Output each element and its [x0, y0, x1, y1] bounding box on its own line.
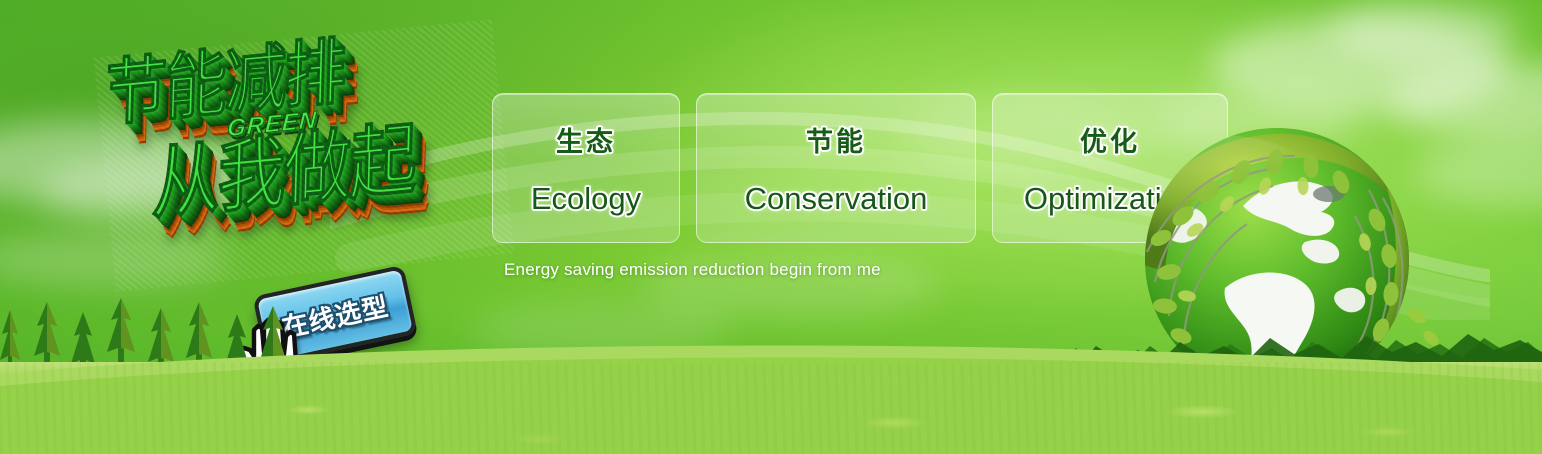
feature-card-title-cn: 节能	[806, 120, 866, 159]
clouds-icon	[1330, 0, 1520, 60]
feature-card-title-en: Ecology	[531, 181, 641, 217]
headline-line-2: 从我做起	[151, 120, 416, 225]
clouds-icon	[40, 158, 280, 222]
headline-accent-green: GREEN	[226, 106, 318, 143]
clouds-icon	[0, 120, 240, 206]
feature-card-title-cn: 生态	[556, 120, 616, 159]
headline-line-1: 节能减排	[104, 37, 345, 132]
feature-card-conservation[interactable]: 节能 Conservation	[696, 93, 976, 243]
online-selection-button-label: 在线选型	[278, 286, 391, 345]
eco-promo-banner: 节能减排 GREEN 从我做起 生态 Ecology 节能 Conservati…	[0, 0, 1542, 454]
grass-field-icon	[0, 362, 1542, 454]
clouds-icon	[1210, 18, 1510, 114]
banner-headline: 节能减排 GREEN 从我做起	[94, 19, 515, 291]
feature-card-title-en: Conservation	[745, 181, 928, 217]
feature-card-ecology[interactable]: 生态 Ecology	[492, 93, 680, 243]
feature-card-list: 生态 Ecology 节能 Conservation 优化 Optimizati…	[492, 93, 1228, 243]
clouds-icon	[470, 300, 730, 360]
banner-tagline: Energy saving emission reduction begin f…	[504, 260, 881, 280]
online-selection-button[interactable]: 在线选型	[252, 265, 417, 365]
clouds-icon	[0, 230, 230, 288]
headline-texture-overlay	[94, 19, 515, 291]
online-selection-button-wrap[interactable]: 在线选型	[252, 265, 417, 365]
